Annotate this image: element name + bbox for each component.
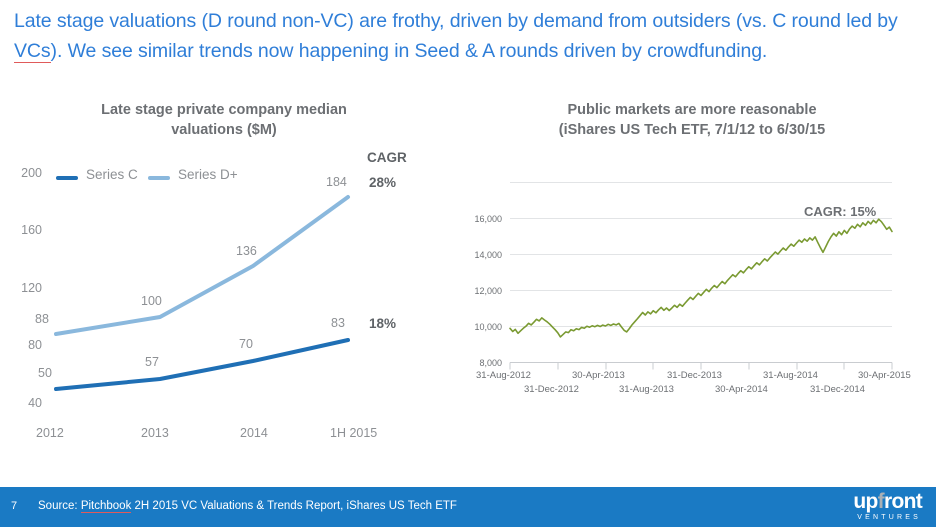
left-chart-title-line2: valuations ($M) [38,120,410,140]
left-chart-panel: Late stage private company median valuat… [8,100,440,475]
legend-label-series-c: Series C [86,167,138,182]
source-note: Source: Pitchbook 2H 2015 VC Valuations … [38,500,457,512]
r-x-tick-31-dec-2013: 31-Dec-2013 [667,370,722,381]
right-chart-title-line2: (iShares US Tech ETF, 7/1/12 to 6/30/15 [492,120,892,140]
r-x-tick-31-aug-2012: 31-Aug-2012 [476,370,531,381]
logo-subtitle: VENTURES [818,513,922,522]
r-x-tick-30-apr-2014: 30-Apr-2014 [715,384,768,395]
headline-line2-part-a: led by [846,10,897,32]
r-x-tick-31-dec-2014: 31-Dec-2014 [810,384,865,395]
left-chart-title-line1: Late stage private company median [38,100,410,120]
headline-spellcheck-word: VCs [14,40,51,63]
legend-swatch-series-d [148,176,170,180]
logo-wordmark: upfront [818,491,922,513]
right-chart-gridlines [510,183,892,363]
headline-line2-part-b: ). We see similar trends now happening i… [51,40,768,62]
right-chart-graphic [452,158,928,470]
series-c-label-2013: 57 [145,355,159,369]
series-c-label-1h-2015: 83 [331,316,345,330]
right-chart-title: Public markets are more reasonable (iSha… [492,100,892,140]
cagr-value-series-c: 18% [369,316,396,331]
cagr-value-series-d: 28% [369,175,396,190]
right-chart-panel: Public markets are more reasonable (iSha… [452,100,928,475]
series-c-label-2012: 50 [38,366,52,380]
series-d-label-2013: 100 [141,294,162,308]
logo-word-part-a: up [853,490,877,513]
slide: Late stage valuations (D round non-VC) a… [0,0,936,527]
r-x-tick-31-dec-2012: 31-Dec-2012 [524,384,579,395]
cagr-header: CAGR [367,150,407,165]
left-chart-plot: 200 160 120 80 40 2012 2013 2014 1H 2015… [8,158,440,468]
page-number: 7 [11,500,17,512]
headline-line1: Late stage valuations (D round non-VC) a… [14,10,841,32]
series-c-label-2014: 70 [239,337,253,351]
r-x-tick-30-apr-2015: 30-Apr-2015 [858,370,911,381]
r-x-tick-30-apr-2013: 30-Apr-2013 [572,370,625,381]
slide-headline: Late stage valuations (D round non-VC) a… [14,6,924,66]
slide-footer: 7 Source: Pitchbook 2H 2015 VC Valuation… [0,487,936,527]
source-suffix: 2H 2015 VC Valuations & Trends Report, i… [131,500,457,512]
r-x-tick-31-aug-2013: 31-Aug-2013 [619,384,674,395]
right-chart-xaxis [510,363,892,370]
left-chart-title: Late stage private company median valuat… [38,100,410,140]
source-prefix: Source: [38,500,81,512]
right-chart-title-line1: Public markets are more reasonable [492,100,892,120]
left-chart-lines [8,158,440,468]
right-chart-plot: CAGR: 15% 16,000 14,000 12,000 10,000 8,… [452,158,928,470]
series-d-label-1h-2015: 184 [326,175,347,189]
legend-swatch-series-c [56,176,78,180]
etf-price-line [510,219,892,337]
series-c-line [56,340,348,389]
legend-label-series-d: Series D+ [178,167,238,182]
r-x-tick-31-aug-2014: 31-Aug-2014 [763,370,818,381]
upfront-ventures-logo: upfront VENTURES [818,491,922,525]
series-d-label-2014: 136 [236,244,257,258]
logo-word-part-b: ront [884,490,922,513]
source-spellcheck-word: Pitchbook [81,500,132,513]
series-d-label-2012: 88 [35,312,49,326]
series-d-line [56,197,348,334]
